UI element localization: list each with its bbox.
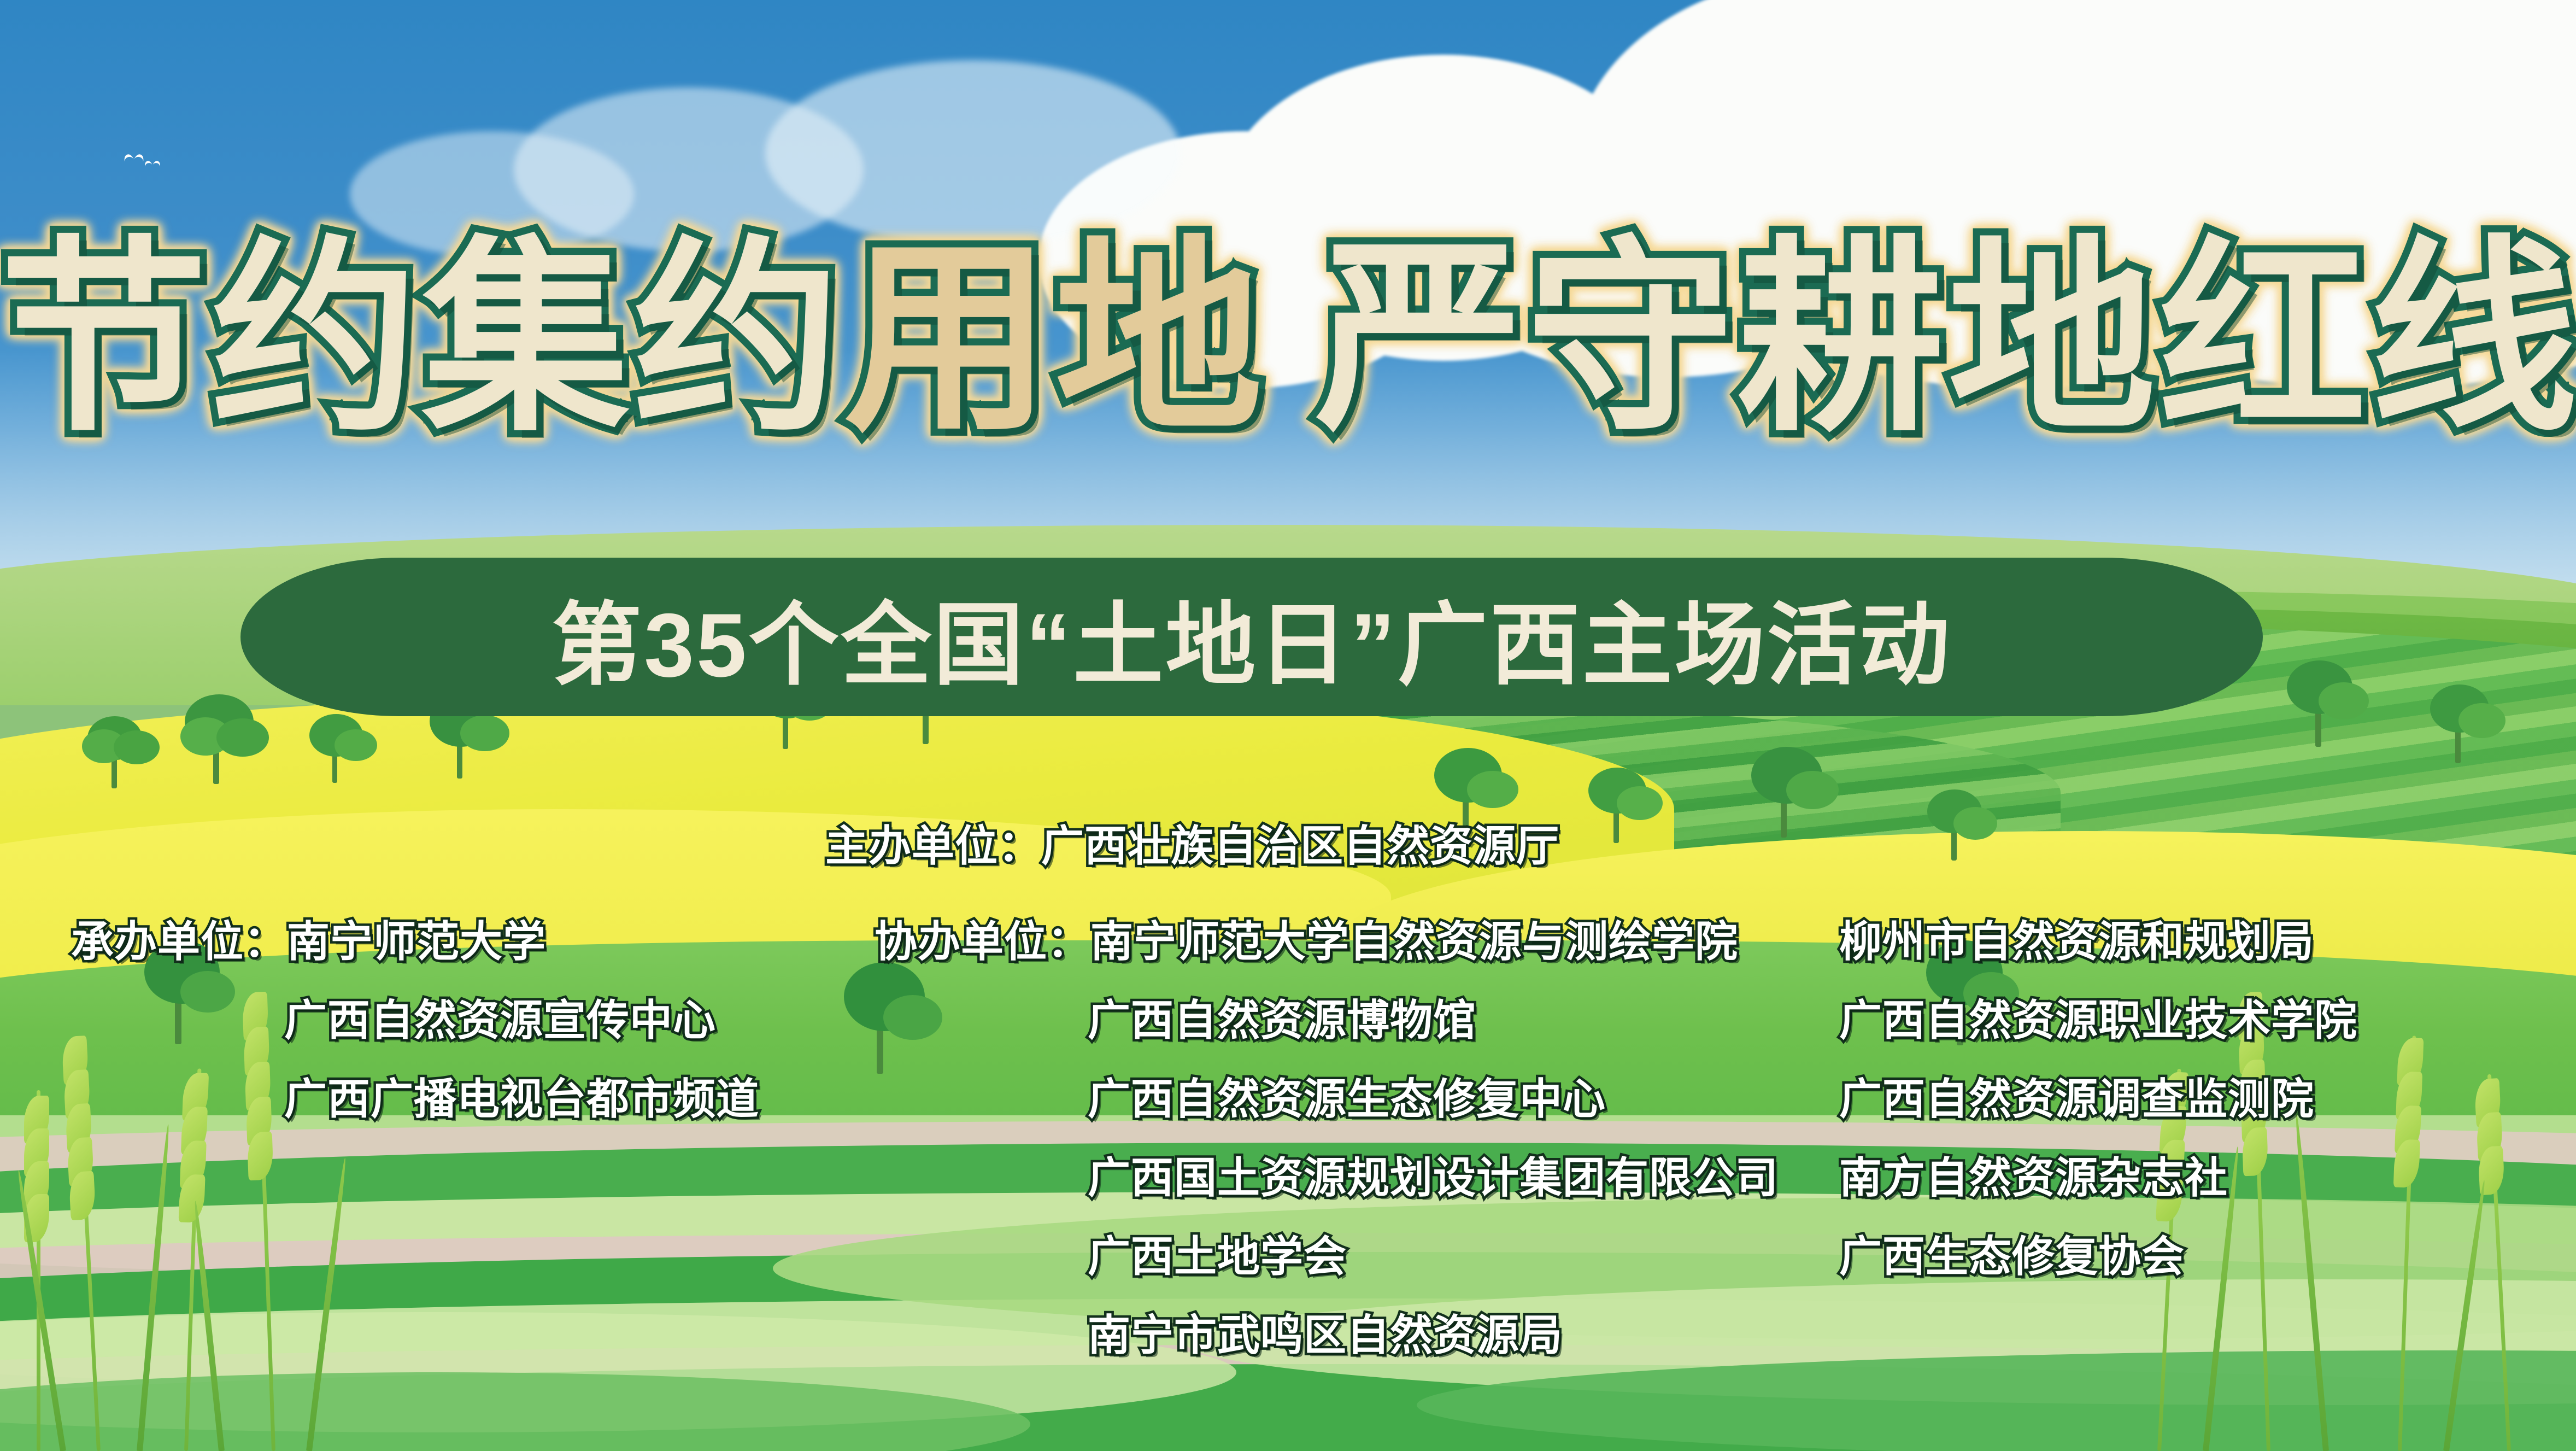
coorganizer-line-2: 广西自然资源博物馆: [875, 986, 1779, 1048]
coorganizer-column: 协办单位：南宁师范大学自然资源与测绘学院 广西自然资源博物馆 广西自然资源生态修…: [875, 908, 1779, 1380]
bird-icon: [125, 154, 143, 166]
subtitle-banner: 第35个全国“土地日”广西主场活动: [240, 558, 2263, 716]
poster-canvas: 节约集约用地严守耕地红线 第35个全国“土地日”广西主场活动 主办单位：广西壮族…: [0, 0, 2576, 1451]
organizer-line-1: 承办单位：南宁师范大学: [71, 908, 759, 969]
bird-icon: [145, 161, 160, 171]
credits-block: 主办单位：广西壮族自治区自然资源厅 承办单位：南宁师范大学 广西自然资源宣传中心…: [0, 795, 2576, 1288]
coorganizer-right-line-2: 广西自然资源职业技术学院: [1839, 986, 2357, 1048]
cloud-cluster-left: [350, 38, 1170, 268]
subtitle-banner-text: 第35个全国“土地日”广西主场活动: [240, 558, 2263, 716]
coorganizer-line-3: 广西自然资源生态修复中心: [875, 1065, 1779, 1126]
coorganizer-right-column: 柳州市自然资源和规划局 广西自然资源职业技术学院 广西自然资源调查监测院 南方自…: [1839, 908, 2357, 1301]
coorganizer-right-line-4: 南方自然资源杂志社: [1839, 1144, 2357, 1205]
host-organization-line: 主办单位：广西壮族自治区自然资源厅: [825, 812, 1559, 873]
coorganizer-line-5: 广西土地学会: [875, 1222, 1779, 1284]
organizer-line-3: 广西广播电视台都市频道: [71, 1065, 759, 1126]
coorganizer-line-6: 南宁市武鸣区自然资源局: [875, 1301, 1779, 1362]
coorganizer-line-4: 广西国土资源规划设计集团有限公司: [875, 1144, 1779, 1205]
coorganizer-line-1: 协办单位：南宁师范大学自然资源与测绘学院: [875, 908, 1779, 969]
coorganizer-right-line-5: 广西生态修复协会: [1839, 1222, 2357, 1284]
organizer-line-2: 广西自然资源宣传中心: [71, 986, 759, 1048]
coorganizer-right-line-1: 柳州市自然资源和规划局: [1839, 908, 2357, 969]
organizer-column: 承办单位：南宁师范大学 广西自然资源宣传中心 广西广播电视台都市频道: [71, 908, 759, 1144]
coorganizer-right-line-3: 广西自然资源调查监测院: [1839, 1065, 2357, 1126]
cloud-cluster-right: [1038, 0, 2576, 366]
